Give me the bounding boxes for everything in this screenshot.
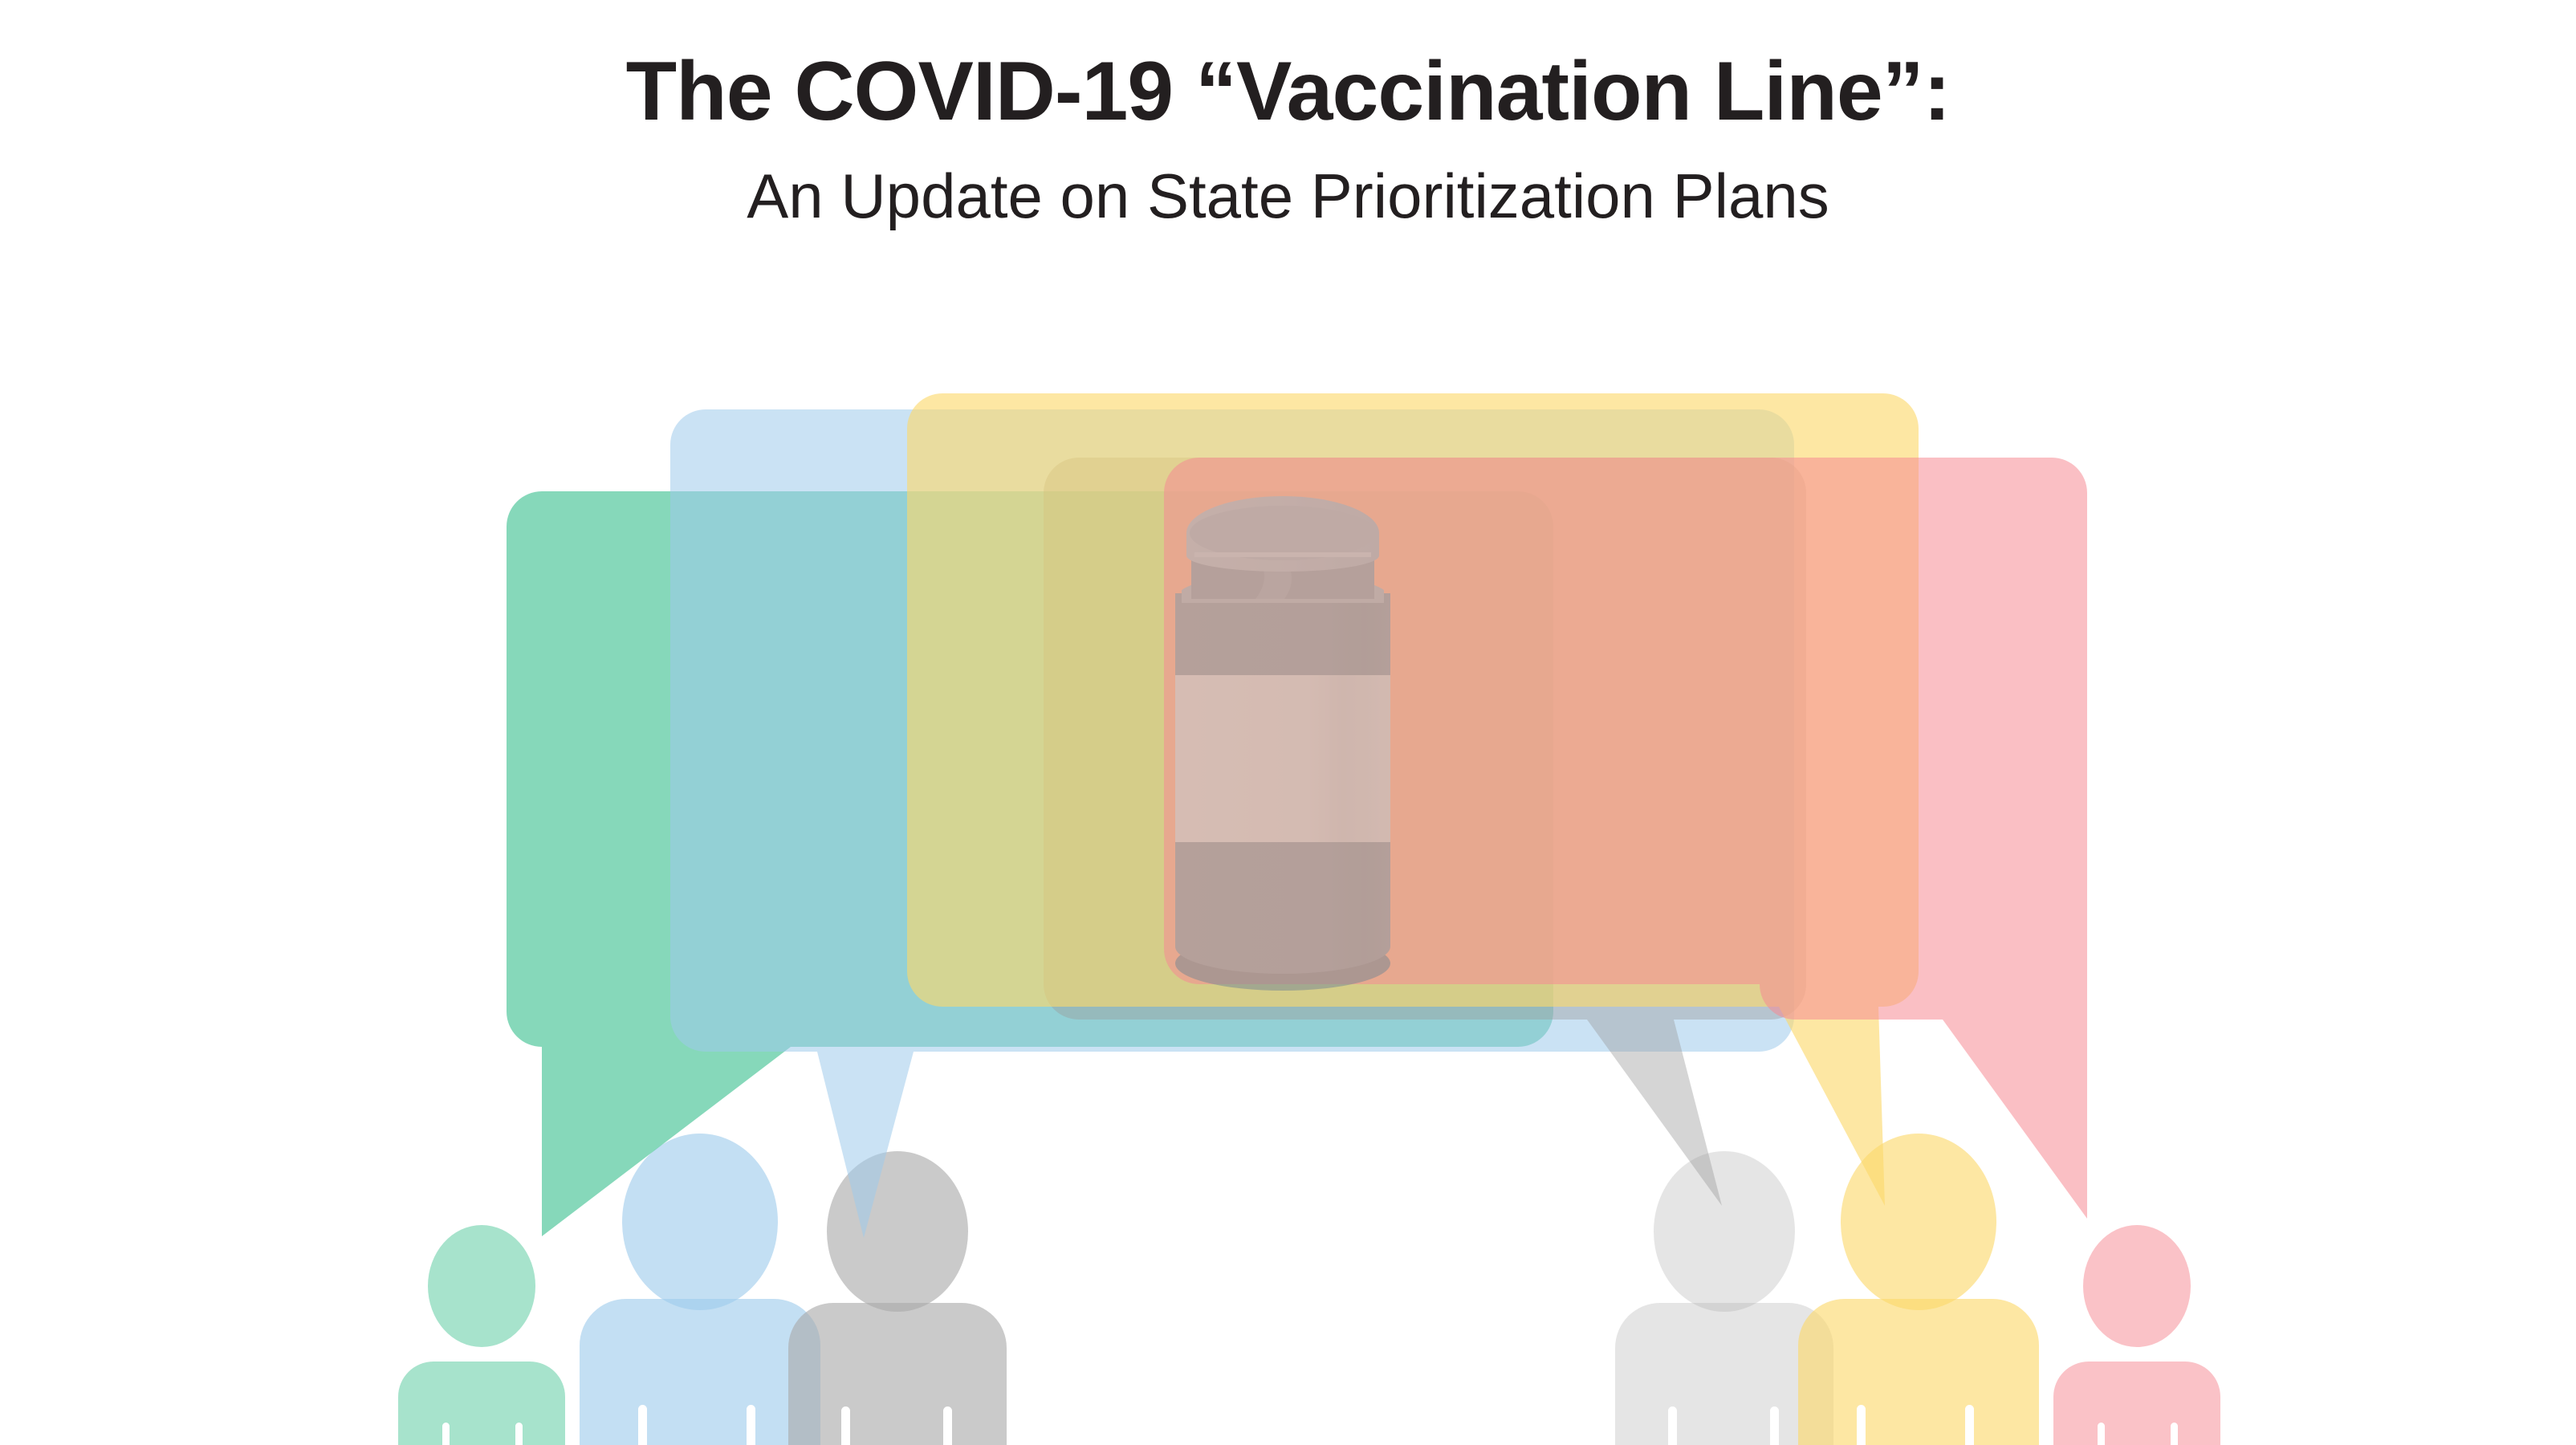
person-body bbox=[1798, 1299, 2039, 1445]
vial-cap-rim bbox=[1194, 552, 1371, 557]
person-leg-gap bbox=[943, 1406, 952, 1445]
illustration bbox=[0, 0, 2576, 1445]
page-root: The COVID-19 “Vaccination Line”: An Upda… bbox=[0, 0, 2576, 1445]
person-leg-gap bbox=[841, 1406, 850, 1445]
person-body bbox=[398, 1362, 565, 1445]
person-head bbox=[1654, 1151, 1795, 1312]
person-leg-gap bbox=[1965, 1405, 1974, 1445]
vial-label bbox=[1175, 675, 1390, 842]
person-leg-gap bbox=[638, 1405, 647, 1445]
person-head bbox=[2083, 1225, 2191, 1347]
vial-cap-top bbox=[1190, 506, 1376, 560]
vaccine-vial bbox=[1175, 496, 1390, 991]
person-body bbox=[2053, 1362, 2220, 1445]
person-yellow bbox=[1798, 1134, 2039, 1445]
person-head bbox=[428, 1225, 535, 1347]
person-body bbox=[788, 1303, 1007, 1445]
person-gray bbox=[788, 1151, 1007, 1445]
person-leg-gap bbox=[515, 1423, 523, 1445]
person-pink bbox=[2053, 1225, 2220, 1445]
person-leg-gap bbox=[747, 1405, 755, 1445]
person-leg-gap bbox=[442, 1423, 450, 1445]
person-leg-gap bbox=[1857, 1405, 1866, 1445]
person-body bbox=[580, 1299, 820, 1445]
person-leg-gap bbox=[1668, 1406, 1677, 1445]
people-left-group bbox=[398, 1134, 1007, 1445]
person-blue bbox=[580, 1134, 820, 1445]
person-leg-gap bbox=[2098, 1423, 2105, 1445]
person-green bbox=[398, 1225, 565, 1445]
person-head bbox=[827, 1151, 968, 1312]
person-leg-gap bbox=[1770, 1406, 1779, 1445]
person-head bbox=[622, 1134, 778, 1310]
person-leg-gap bbox=[2171, 1423, 2178, 1445]
illustration-canvas bbox=[0, 0, 2576, 1445]
